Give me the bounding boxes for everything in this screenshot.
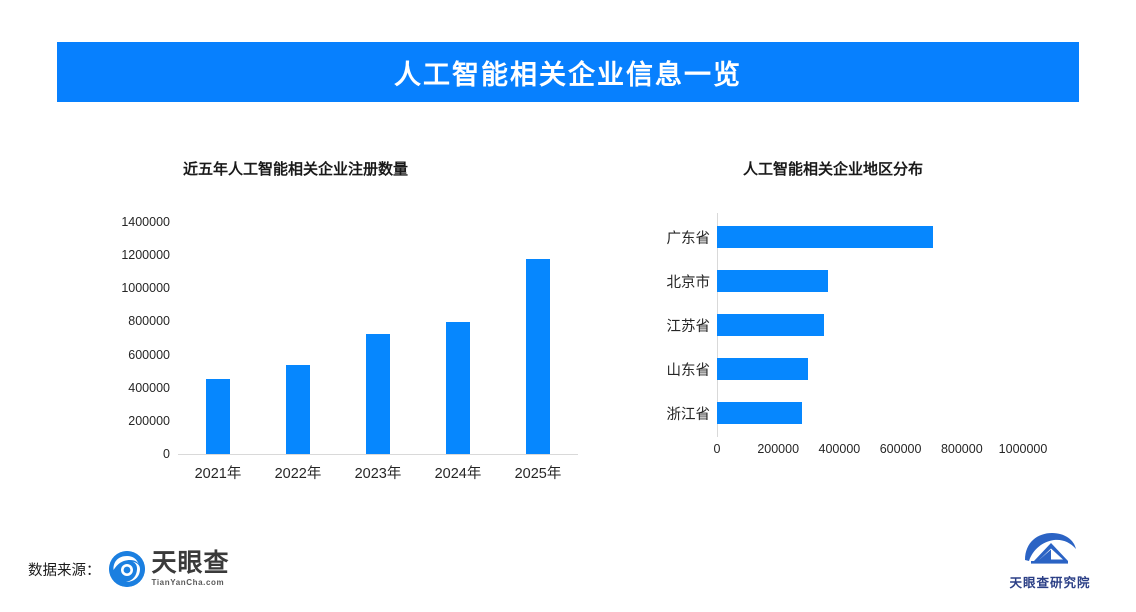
tianyancha-wordmark: 天眼查 TianYanCha.com — [152, 551, 230, 587]
institute-name: 天眼查研究院 — [1009, 572, 1090, 591]
region-row: 山东省 — [600, 347, 1040, 391]
region-row: 江苏省 — [600, 303, 1040, 347]
bar-slot — [498, 226, 578, 454]
institute-logo: 天眼查研究院 — [1004, 530, 1096, 592]
region-row: 浙江省 — [600, 391, 1040, 435]
registrations-bars — [178, 226, 578, 454]
bar — [446, 322, 470, 454]
regions-bars: 广东省北京市江苏省山东省浙江省 — [600, 215, 1040, 435]
region-label: 广东省 — [600, 215, 710, 259]
x-axis-tick-label: 800000 — [941, 442, 983, 456]
registrations-x-axis: 2021年2022年2023年2024年2025年 — [178, 462, 578, 486]
region-row: 广东省 — [600, 215, 1040, 259]
x-axis-tick-label: 2024年 — [418, 462, 498, 483]
y-axis-tick-label: 1000000 — [121, 282, 170, 294]
bar-slot — [258, 226, 338, 454]
page-title: 人工智能相关企业信息一览 — [394, 53, 742, 92]
x-axis-tick-label: 0 — [714, 442, 721, 456]
x-axis-tick-label: 400000 — [819, 442, 861, 456]
x-axis-tick-label: 200000 — [757, 442, 799, 456]
data-source: 数据来源： 天眼查 TianYanCha.com — [28, 548, 230, 590]
bar — [366, 334, 390, 454]
x-axis-tick-label: 600000 — [880, 442, 922, 456]
y-axis-tick-label: 200000 — [128, 415, 170, 427]
region-label: 浙江省 — [600, 391, 710, 435]
registrations-chart-title: 近五年人工智能相关企业注册数量 — [183, 158, 408, 179]
infographic-page: 人工智能相关企业信息一览 近五年人工智能相关企业注册数量 02000004000… — [0, 0, 1136, 612]
x-axis-tick-label: 1000000 — [999, 442, 1048, 456]
tianyancha-name-en: TianYanCha.com — [152, 579, 230, 587]
tianyancha-name-cn: 天眼查 — [152, 551, 230, 576]
data-source-label: 数据来源： — [28, 559, 101, 580]
regions-x-axis: 02000004000006000008000001000000 — [717, 442, 1047, 462]
bar — [206, 379, 230, 454]
y-axis-tick-label: 1200000 — [121, 249, 170, 261]
y-axis-tick-label: 0 — [163, 448, 170, 460]
region-label: 山东省 — [600, 347, 710, 391]
bar — [717, 358, 808, 380]
region-row: 北京市 — [600, 259, 1040, 303]
y-axis-tick-label: 1400000 — [121, 216, 170, 228]
region-label: 北京市 — [600, 259, 710, 303]
bar — [717, 314, 824, 336]
bar — [717, 270, 828, 292]
regions-chart-title: 人工智能相关企业地区分布 — [743, 158, 923, 179]
y-axis-tick-label: 400000 — [128, 382, 170, 394]
bar — [526, 259, 550, 454]
registrations-y-axis: 0200000400000600000800000100000012000001… — [60, 210, 170, 442]
bar-slot — [338, 226, 418, 454]
regions-chart-panel: 人工智能相关企业地区分布 广东省北京市江苏省山东省浙江省 02000004000… — [600, 140, 1080, 510]
x-axis-tick-label: 2021年 — [178, 462, 258, 483]
bar-slot — [418, 226, 498, 454]
header-banner: 人工智能相关企业信息一览 — [57, 42, 1079, 102]
bar — [717, 402, 802, 424]
x-axis-tick-label: 2022年 — [258, 462, 338, 483]
bar — [286, 365, 310, 454]
bar-slot — [178, 226, 258, 454]
x-axis-tick-label: 2023年 — [338, 462, 418, 483]
region-label: 江苏省 — [600, 303, 710, 347]
registrations-chart-panel: 近五年人工智能相关企业注册数量 020000040000060000080000… — [60, 140, 580, 500]
x-axis-tick-label: 2025年 — [498, 462, 578, 483]
bar — [717, 226, 933, 248]
registrations-x-axis-line — [178, 454, 578, 455]
y-axis-tick-label: 800000 — [128, 315, 170, 327]
tianyancha-mark-icon — [109, 551, 145, 587]
institute-mark-icon — [1021, 530, 1079, 570]
tianyancha-logo: 天眼查 TianYanCha.com — [109, 551, 230, 587]
y-axis-tick-label: 600000 — [128, 349, 170, 361]
